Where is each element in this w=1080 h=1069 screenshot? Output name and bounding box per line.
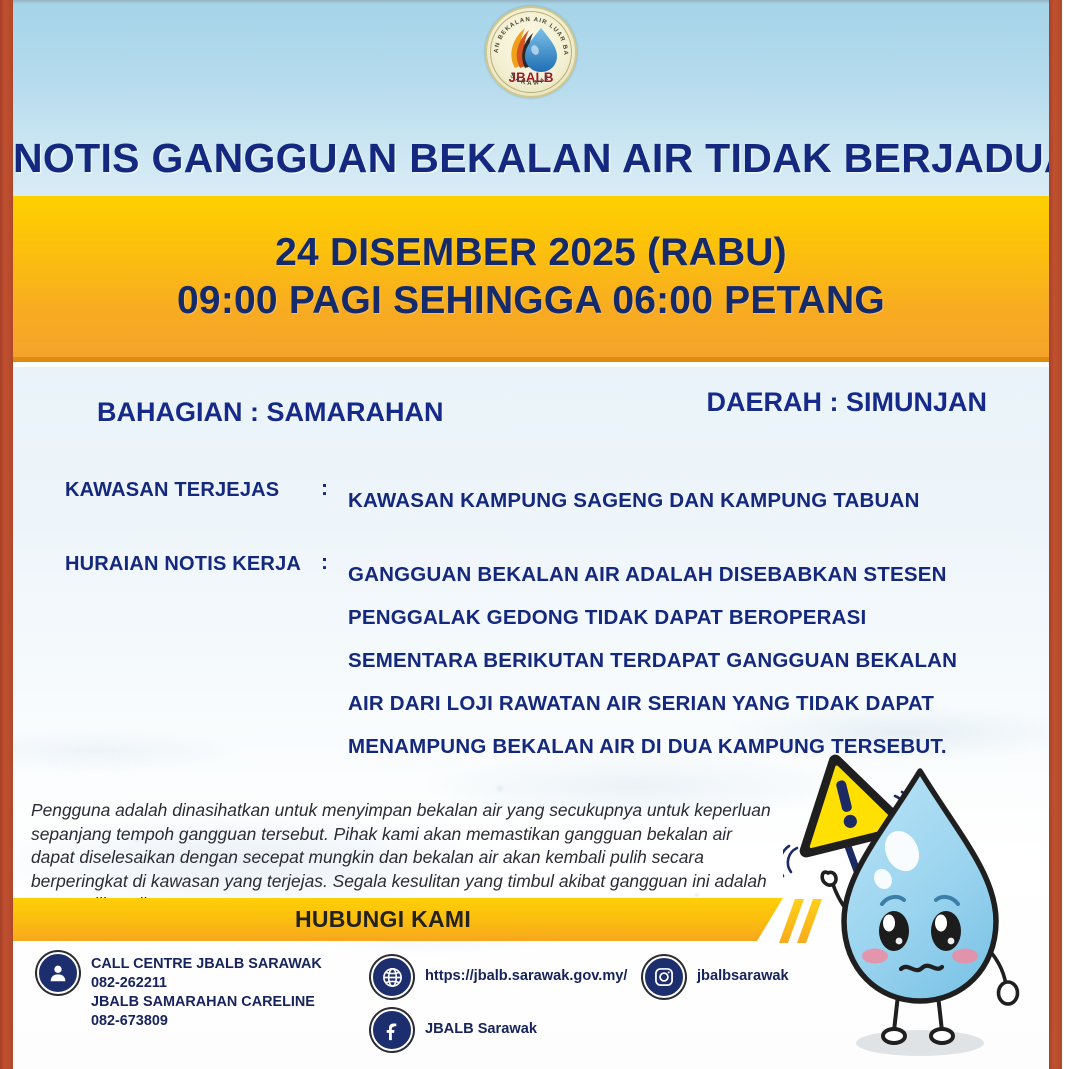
location-row: BAHAGIAN : SAMARAHAN DAERAH : SIMUNJAN: [13, 397, 1049, 428]
outage-time: 09:00 PAGI SEHINGGA 06:00 PETANG: [177, 279, 885, 323]
division-label: BAHAGIAN : SAMARAHAN: [97, 397, 443, 428]
contact-call-centre[interactable]: CALL CENTRE JBALB SARAWAK 082-262211 JBA…: [37, 952, 322, 1031]
district-label: DAERAH : SIMUNJAN: [706, 387, 987, 428]
contact-facebook[interactable]: JBALB Sarawak: [371, 1009, 537, 1051]
careline-phone: 082-673809: [91, 1012, 322, 1031]
right-border-stripe: [1049, 0, 1062, 1069]
call-centre-name: CALL CENTRE JBALB SARAWAK: [91, 955, 322, 974]
work-description-line-4: AIR DARI LOJI RAWATAN AIR SERIAN YANG TI…: [348, 682, 1009, 725]
contact-banner-title: HUBUNGI KAMI: [13, 898, 783, 941]
affected-area-colon: :: [321, 477, 328, 501]
website-text: https://jbalb.sarawak.gov.my/: [425, 956, 627, 986]
date-time-band: 24 DISEMBER 2025 (RABU) 09:00 PAGI SEHIN…: [13, 196, 1049, 362]
instagram-text: jbalbsarawak: [697, 956, 789, 986]
left-border-stripe: [0, 0, 13, 1069]
work-description-line-1: GANGGUAN BEKALAN AIR ADALAH DISEBABKAN S…: [348, 553, 1009, 596]
contact-website[interactable]: https://jbalb.sarawak.gov.my/: [371, 956, 627, 998]
website-url: https://jbalb.sarawak.gov.my/: [425, 959, 627, 986]
affected-area-line: KAWASAN KAMPUNG SAGENG DAN KAMPUNG TABUA…: [348, 479, 1009, 522]
facebook-icon: [371, 1009, 413, 1051]
contact-instagram[interactable]: jbalbsarawak: [643, 956, 789, 998]
page-title: NOTIS GANGGUAN BEKALAN AIR TIDAK BERJADU…: [13, 135, 1049, 182]
affected-area-value: KAWASAN KAMPUNG SAGENG DAN KAMPUNG TABUA…: [348, 479, 1009, 522]
globe-icon: [371, 956, 413, 998]
work-description-line-2: PENGGALAK GEDONG TIDAK DAPAT BEROPERASI: [348, 596, 1009, 639]
logo-artwork: JBALB JABATAN BEKALAN AIR LUAR BANDAR SA…: [485, 6, 577, 98]
facebook-text: JBALB Sarawak: [425, 1009, 537, 1039]
instagram-handle: jbalbsarawak: [697, 959, 789, 986]
work-description-label: HURAIAN NOTIS KERJA: [65, 553, 301, 576]
facebook-handle: JBALB Sarawak: [425, 1012, 537, 1039]
notice-poster: JBALB JABATAN BEKALAN AIR LUAR BANDAR SA…: [0, 0, 1080, 1069]
banner-slash-decoration: [785, 899, 855, 943]
poster-header: JBALB JABATAN BEKALAN AIR LUAR BANDAR SA…: [13, 0, 1049, 196]
work-description-value: GANGGUAN BEKALAN AIR ADALAH DISEBABKAN S…: [348, 553, 1009, 768]
outage-date: 24 DISEMBER 2025 (RABU): [275, 231, 787, 275]
call-centre-phone: 082-262211: [91, 974, 322, 993]
call-centre-text: CALL CENTRE JBALB SARAWAK 082-262211 JBA…: [91, 952, 322, 1031]
work-description-line-3: SEMENTARA BERIKUTAN TERDAPAT GANGGUAN BE…: [348, 639, 1009, 682]
person-icon: [37, 952, 79, 994]
work-description-colon: :: [321, 551, 328, 575]
jbalb-logo: JBALB JABATAN BEKALAN AIR LUAR BANDAR SA…: [485, 6, 577, 98]
contact-banner: HUBUNGI KAMI: [13, 898, 783, 941]
instagram-icon: [643, 956, 685, 998]
careline-name: JBALB SAMARAHAN CARELINE: [91, 993, 322, 1012]
affected-area-label: KAWASAN TERJEJAS: [65, 479, 279, 502]
